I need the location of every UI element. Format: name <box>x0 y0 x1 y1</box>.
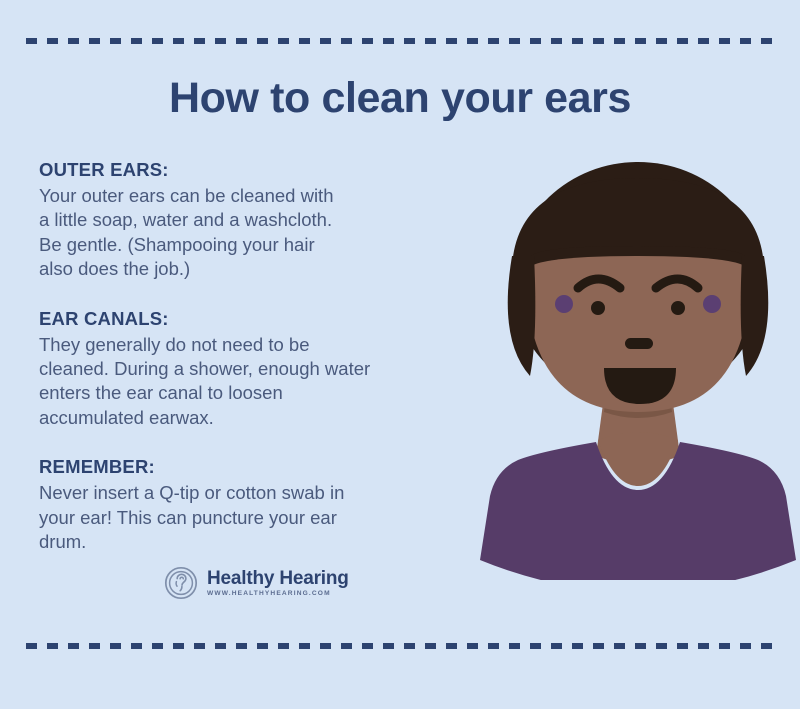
hair-right-lock <box>741 256 769 376</box>
nose <box>625 338 653 349</box>
section-outer-ears: OUTER EARS: Your outer ears can be clean… <box>39 158 509 282</box>
section-remember: REMEMBER: Never insert a Q-tip or cotton… <box>39 455 509 554</box>
divider-top <box>26 38 776 44</box>
infographic-canvas: How to clean your ears OUTER EARS: Your … <box>0 0 800 709</box>
smiling-woman-illustration <box>468 160 800 580</box>
divider-bottom <box>26 643 776 649</box>
section-heading: EAR CANALS: <box>39 307 509 332</box>
brand-logo: Healthy Hearing WWW.HEALTHYHEARING.COM <box>164 566 349 600</box>
left-earring <box>555 295 573 313</box>
logo-url: WWW.HEALTHYHEARING.COM <box>207 590 349 597</box>
ear-in-circle-icon <box>164 566 198 600</box>
content-column: OUTER EARS: Your outer ears can be clean… <box>39 158 509 554</box>
hair-left-lock <box>508 256 536 376</box>
page-title: How to clean your ears <box>0 74 800 123</box>
section-body: Never insert a Q-tip or cotton swab in y… <box>39 481 509 554</box>
section-body: They generally do not need to be cleaned… <box>39 333 509 431</box>
right-eye <box>671 301 685 315</box>
left-eye <box>591 301 605 315</box>
logo-text: Healthy Hearing WWW.HEALTHYHEARING.COM <box>207 569 349 598</box>
section-heading: REMEMBER: <box>39 455 509 480</box>
right-earring <box>703 295 721 313</box>
section-ear-canals: EAR CANALS: They generally do not need t… <box>39 307 509 431</box>
section-body: Your outer ears can be cleaned with a li… <box>39 184 509 282</box>
section-heading: OUTER EARS: <box>39 158 509 183</box>
logo-name: Healthy Hearing <box>207 569 349 589</box>
